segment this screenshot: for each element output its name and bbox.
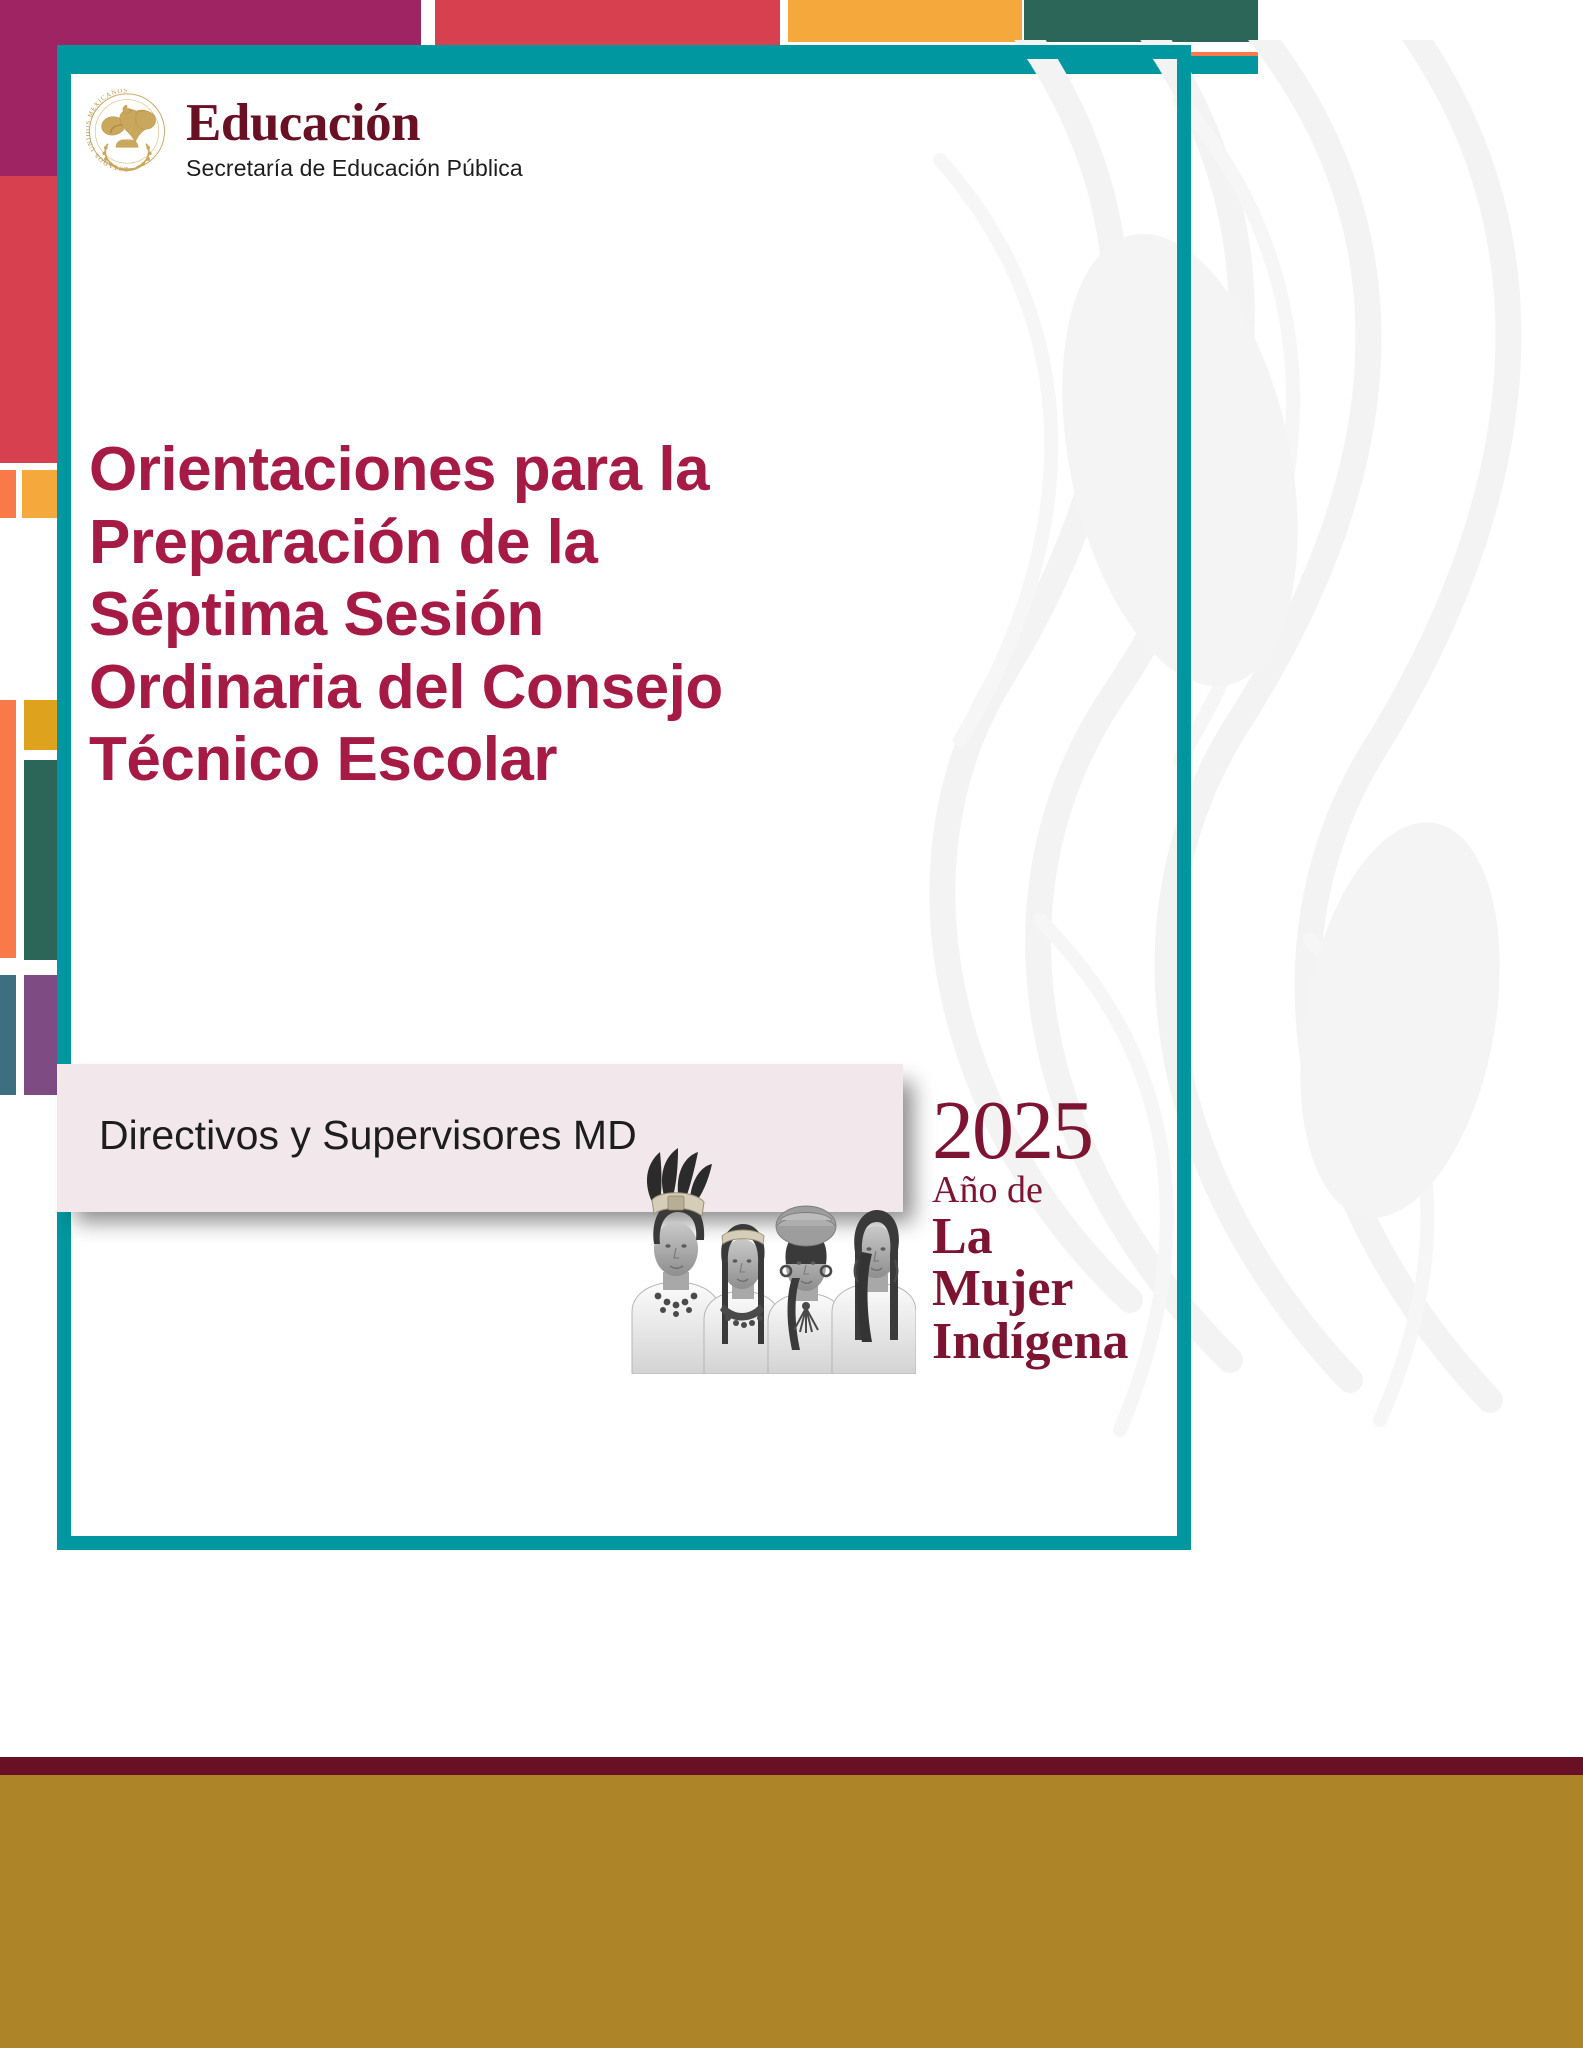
deco-band-top-green (1024, 0, 1258, 42)
cover-page: ESTADOS UNIDOS MEXICANOS (0, 0, 1583, 2048)
title-line-1: Orientaciones para la (89, 434, 879, 507)
deco-band-top-red (435, 0, 780, 46)
cover-content: ESTADOS UNIDOS MEXICANOS (71, 59, 1177, 1536)
year-number: 2025 (932, 1092, 1146, 1169)
deco-band-left-amber-upper (22, 470, 62, 518)
title-line-5: Técnico Escolar (89, 724, 879, 797)
audience-label: Directivos y Supervisores MD (99, 1112, 637, 1159)
year-2025-logo: 2025 Año de La Mujer Indígena (616, 1144, 1146, 1374)
sep-logo-lockup: ESTADOS UNIDOS MEXICANOS (86, 89, 523, 182)
year-logo-line1: Año de (932, 1171, 1146, 1209)
deco-band-left-magenta (0, 0, 62, 176)
deco-band-top-amber (788, 0, 1022, 42)
year-logo-line3: Indígena (932, 1316, 1146, 1368)
deco-band-left-red (0, 176, 62, 463)
deco-band-left-orange-upper (0, 470, 16, 518)
logo-title: Educación (186, 97, 523, 150)
logo-subtitle: Secretaría de Educación Pública (186, 155, 523, 182)
title-line-2: Preparación de la (89, 507, 879, 580)
deco-band-bottom-maroon (0, 1757, 1583, 1775)
deco-band-left-steel (0, 975, 16, 1095)
deco-band-bottom-gold (0, 1775, 1583, 2048)
page-title: Orientaciones para la Preparación de la … (89, 434, 879, 797)
mexican-coat-of-arms-icon: ESTADOS UNIDOS MEXICANOS (86, 89, 168, 177)
title-line-4: Ordinaria del Consejo (89, 652, 879, 725)
sep-logo-text: Educación Secretaría de Educación Públic… (186, 89, 523, 182)
title-line-3: Séptima Sesión (89, 579, 879, 652)
deco-band-left-orange-lower (0, 700, 16, 958)
year-logo-line2: La Mujer (932, 1211, 1146, 1315)
four-indigenous-women-illustration (616, 1144, 916, 1374)
year-logo-text: 2025 Año de La Mujer Indígena (932, 1092, 1146, 1374)
deco-band-top-magenta (0, 0, 421, 46)
